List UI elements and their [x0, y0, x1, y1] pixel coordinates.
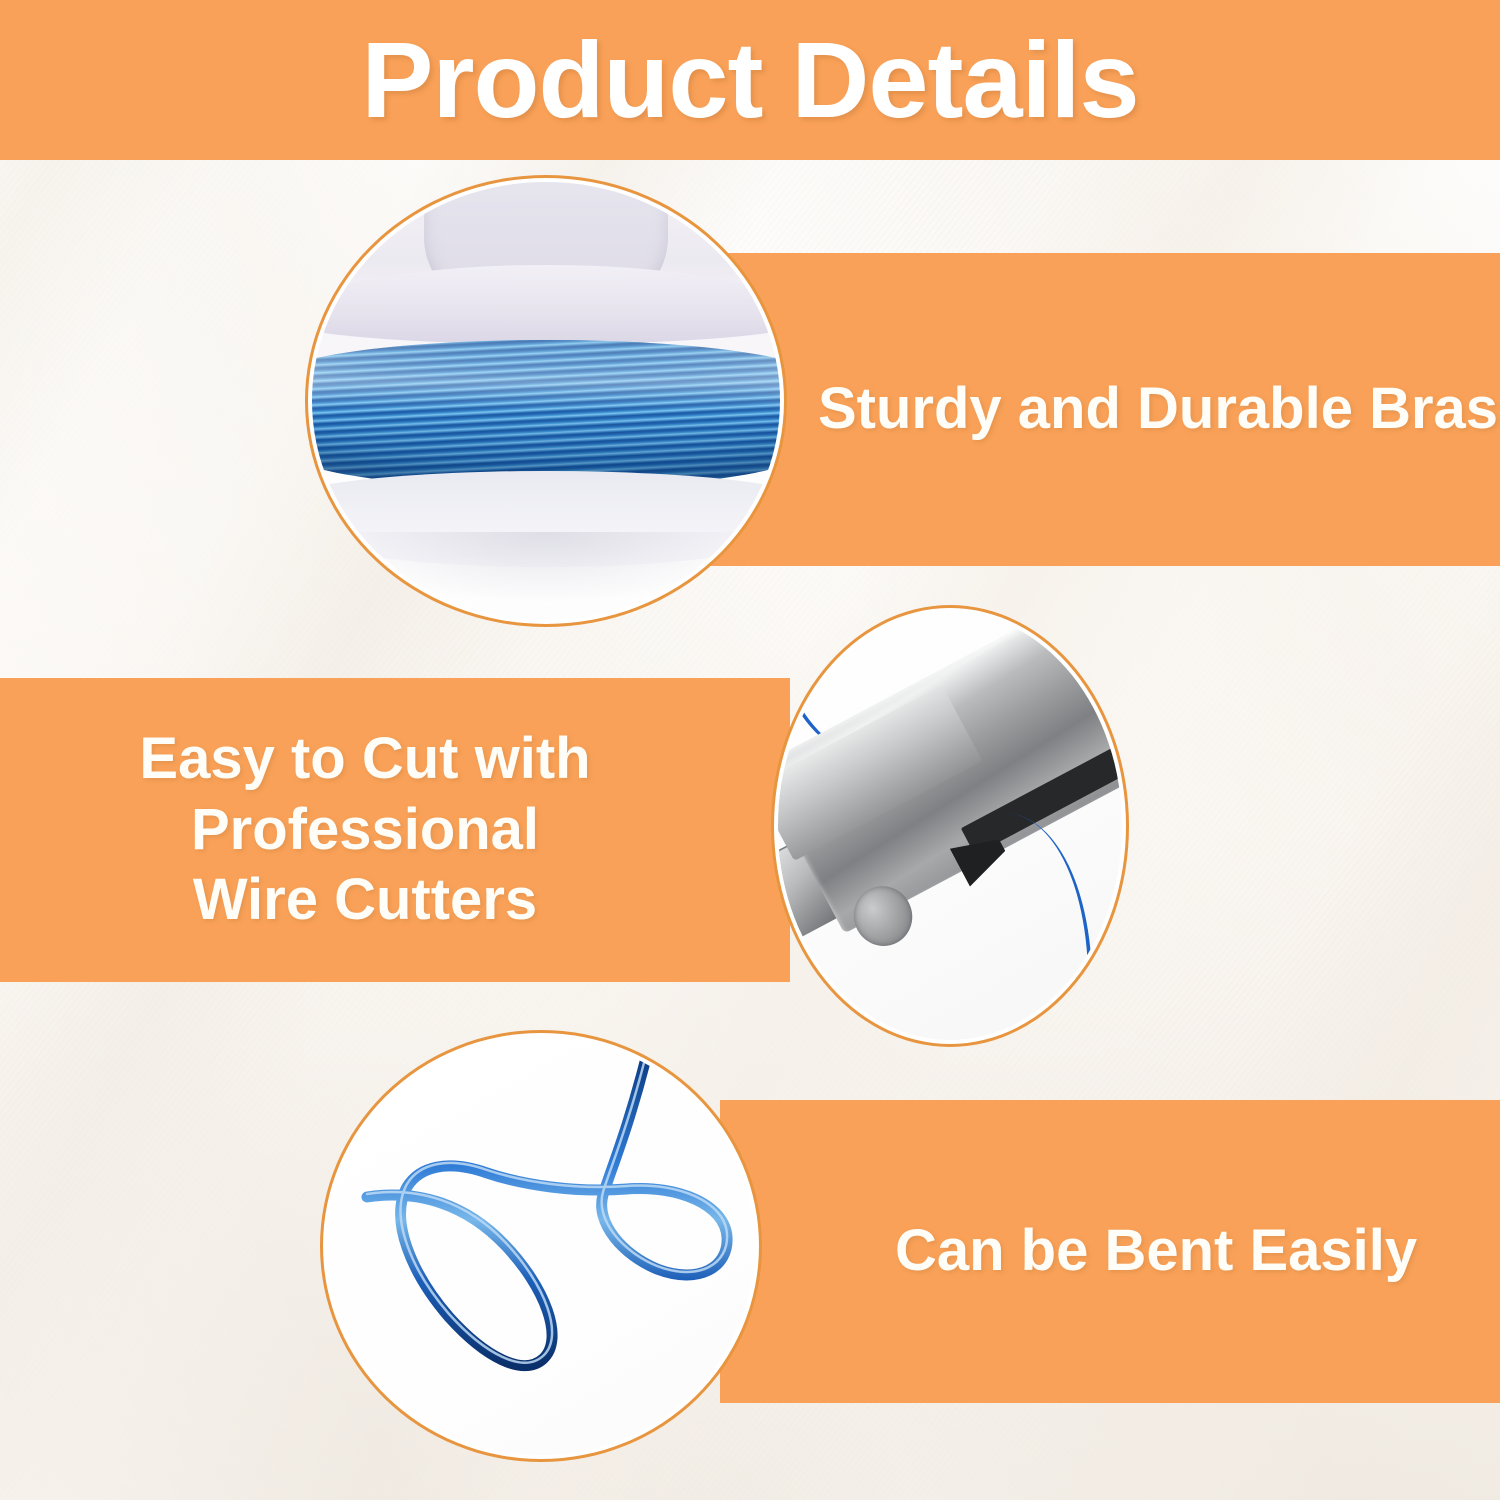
product-details-infographic: Product Details Sturdy and Durable Brass… — [0, 0, 1500, 1500]
spool-shadow — [331, 532, 762, 602]
feature-label-easy-to-cut-line2: Wire Cutters — [0, 865, 730, 936]
feature-image-wire-cutter — [778, 612, 1122, 1040]
header-banner: Product Details — [0, 0, 1500, 160]
feature-label-sturdy-brass: Sturdy and Durable Brass — [818, 374, 1500, 445]
wire-spool-photo — [312, 182, 780, 620]
blue-wire-lower-segment — [965, 812, 1110, 1040]
feature-image-bent-wire — [327, 1037, 755, 1455]
page-title: Product Details — [361, 26, 1138, 134]
wire-cutter-photo — [778, 612, 1122, 1040]
spool-upper-flange — [312, 265, 780, 344]
feature-band-sturdy-brass: Sturdy and Durable Brass — [700, 253, 1500, 566]
feature-label-bent-easily: Can be Bent Easily — [895, 1216, 1417, 1287]
bent-wire-photo — [327, 1037, 755, 1455]
feature-label-easy-to-cut-line1: Easy to Cut with Professional — [0, 724, 730, 866]
wire-coil-sheen — [312, 340, 780, 489]
feature-image-wire-spool — [312, 182, 780, 620]
feature-band-easy-to-cut: Easy to Cut with Professional Wire Cutte… — [0, 678, 790, 982]
feature-band-bent-easily: Can be Bent Easily — [720, 1100, 1500, 1403]
bent-wire-illustration — [327, 1037, 755, 1455]
